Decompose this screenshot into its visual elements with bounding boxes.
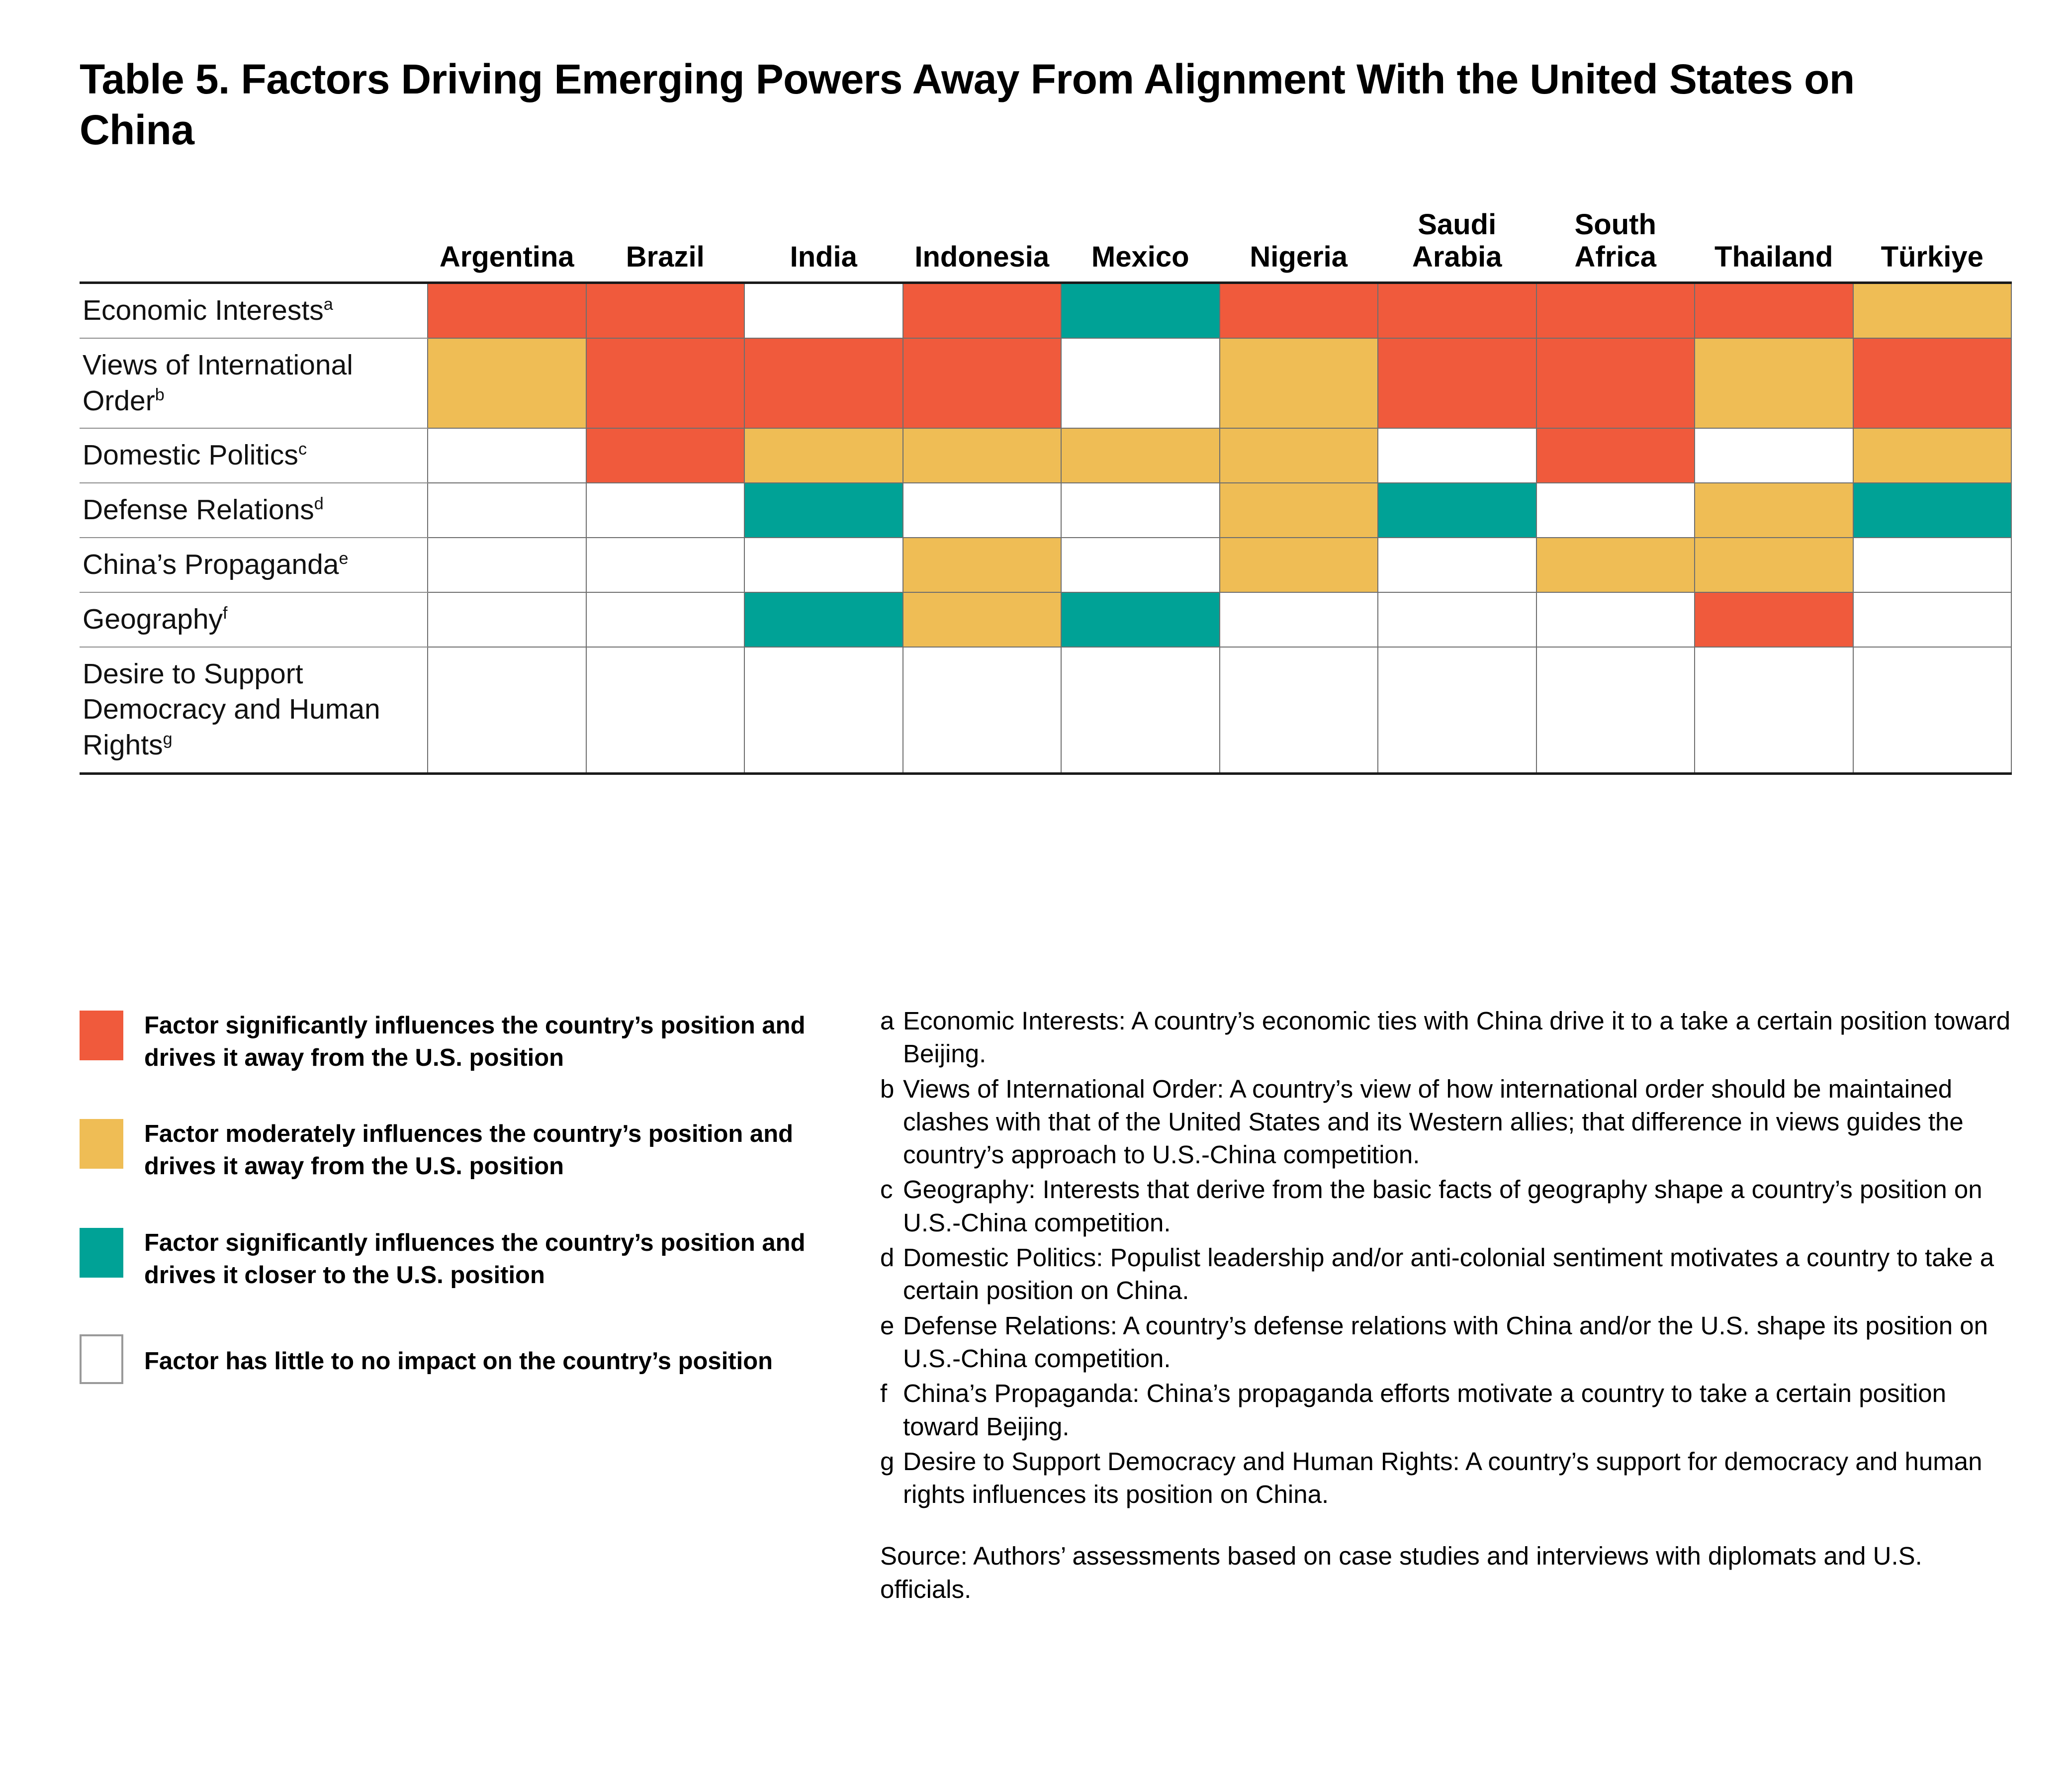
footnote-text: Geography: Interests that derive from th… <box>903 1173 2019 1239</box>
matrix-cell <box>1536 592 1695 647</box>
matrix-header-row: ArgentinaBrazilIndiaIndonesiaMexicoNiger… <box>80 209 2011 282</box>
matrix-cell <box>1536 282 1695 338</box>
matrix-cell <box>744 282 903 338</box>
matrix-cell <box>1695 338 1853 429</box>
column-header-mexico: Mexico <box>1061 209 1220 282</box>
row-label-china-s-propaganda: China’s Propagandae <box>80 538 428 592</box>
matrix-cell <box>1853 282 2012 338</box>
footnote-text: Views of International Order: A country’… <box>903 1073 2019 1172</box>
matrix-cell <box>1220 483 1378 538</box>
column-header-nigeria: Nigeria <box>1220 209 1378 282</box>
footnote-marker: c <box>880 1173 903 1239</box>
footnote-marker: e <box>880 1309 903 1376</box>
row-label-text: Desire to Support Democracy and Human Ri… <box>83 658 380 761</box>
row-label-views-of-international-order: Views of International Orderb <box>80 338 428 429</box>
matrix-cell <box>1220 647 1378 774</box>
matrix-cell <box>428 428 586 483</box>
footnote-text: Defense Relations: A country’s defense r… <box>903 1309 2019 1376</box>
legend-swatch-teal <box>80 1228 123 1278</box>
matrix-cell <box>1220 338 1378 429</box>
matrix-cell <box>586 282 745 338</box>
matrix-cell <box>744 338 903 429</box>
footnote-item: fChina’s Propaganda: China’s propaganda … <box>880 1377 2019 1443</box>
matrix-cell <box>1853 428 2012 483</box>
matrix-cell <box>1220 592 1378 647</box>
row-label-text: China’s Propaganda <box>83 549 339 580</box>
column-header-saudi-arabia: SaudiArabia <box>1378 209 1536 282</box>
matrix-cell <box>1061 428 1220 483</box>
matrix-cell <box>1853 647 2012 774</box>
matrix-cell <box>1220 538 1378 592</box>
row-footnote-marker: a <box>324 295 333 314</box>
footnote-marker: b <box>880 1073 903 1172</box>
table-row: Defense Relationsd <box>80 483 2011 538</box>
matrix-cell <box>1061 338 1220 429</box>
column-header-t-rkiye: Türkiye <box>1853 209 2012 282</box>
matrix-cell <box>1220 428 1378 483</box>
matrix-cell <box>1536 428 1695 483</box>
legend-label: Factor moderately influences the country… <box>144 1117 840 1183</box>
column-header-india: India <box>744 209 903 282</box>
matrix-cell <box>428 538 586 592</box>
legend-swatch-red <box>80 1011 123 1060</box>
row-label-text: Economic Interests <box>83 294 324 326</box>
matrix-body: Economic InterestsaViews of Internationa… <box>80 282 2011 773</box>
legend-item: Factor moderately influences the country… <box>80 1117 840 1183</box>
matrix-cell <box>1536 483 1695 538</box>
matrix-cell <box>1536 538 1695 592</box>
footnote-marker: g <box>880 1445 903 1511</box>
legend: Factor significantly influences the coun… <box>80 1005 840 1384</box>
matrix-head: ArgentinaBrazilIndiaIndonesiaMexicoNiger… <box>80 209 2011 282</box>
matrix-cell <box>428 338 586 429</box>
matrix-cell <box>1695 592 1853 647</box>
footnote-marker: d <box>880 1241 903 1307</box>
legend-swatch-yellow <box>80 1119 123 1169</box>
row-label-text: Views of International Order <box>83 349 353 417</box>
matrix-cell <box>428 282 586 338</box>
footnotes-list: aEconomic Interests: A country’s economi… <box>880 1005 2019 1511</box>
matrix-cell <box>1061 282 1220 338</box>
matrix-cell <box>586 483 745 538</box>
matrix-cell <box>1695 282 1853 338</box>
row-footnote-marker: e <box>339 549 349 568</box>
matrix-cell <box>1378 592 1536 647</box>
table-row: Domestic Politicsc <box>80 428 2011 483</box>
matrix-cell <box>1695 483 1853 538</box>
column-header-thailand: Thailand <box>1695 209 1853 282</box>
footnote-item: dDomestic Politics: Populist leadership … <box>880 1241 2019 1307</box>
matrix-cell <box>744 647 903 774</box>
matrix-cell <box>586 647 745 774</box>
matrix-cell <box>586 338 745 429</box>
matrix-cell <box>744 538 903 592</box>
footnote-item: bViews of International Order: A country… <box>880 1073 2019 1172</box>
matrix-cell <box>744 483 903 538</box>
row-footnote-marker: c <box>298 440 307 459</box>
footnote-text: China’s Propaganda: China’s propaganda e… <box>903 1377 2019 1443</box>
matrix-cell <box>903 538 1062 592</box>
footnote-item: cGeography: Interests that derive from t… <box>880 1173 2019 1239</box>
matrix-cell <box>1853 483 2012 538</box>
matrix-cell <box>744 428 903 483</box>
row-label-domestic-politics: Domestic Politicsc <box>80 428 428 483</box>
matrix-cell <box>1536 338 1695 429</box>
matrix-cell <box>1378 338 1536 429</box>
factor-matrix-table: ArgentinaBrazilIndiaIndonesiaMexicoNiger… <box>80 209 2012 775</box>
column-header-indonesia: Indonesia <box>903 209 1062 282</box>
matrix-cell <box>1220 282 1378 338</box>
row-footnote-marker: b <box>155 385 165 404</box>
legend-label: Factor has little to no impact on the co… <box>144 1334 773 1378</box>
legend-item: Factor significantly influences the coun… <box>80 1226 840 1292</box>
row-label-geography: Geographyf <box>80 592 428 647</box>
row-label-desire-to-support-democracy-and-human-rights: Desire to Support Democracy and Human Ri… <box>80 647 428 774</box>
footnote-marker: a <box>880 1005 903 1071</box>
lower-section: Factor significantly influences the coun… <box>80 1005 2019 1606</box>
row-footnote-marker: g <box>163 730 173 748</box>
row-footnote-marker: d <box>314 494 324 513</box>
footnote-marker: f <box>880 1377 903 1443</box>
matrix-cell <box>1695 538 1853 592</box>
table-row: Economic Interestsa <box>80 282 2011 338</box>
matrix-cell <box>903 338 1062 429</box>
footnote-item: eDefense Relations: A country’s defense … <box>880 1309 2019 1376</box>
matrix-cell <box>903 282 1062 338</box>
legend-label: Factor significantly influences the coun… <box>144 1009 840 1074</box>
matrix-cell <box>1061 647 1220 774</box>
matrix-cell <box>428 483 586 538</box>
matrix-cell <box>1378 647 1536 774</box>
column-header-argentina: Argentina <box>428 209 586 282</box>
matrix-cell <box>903 592 1062 647</box>
matrix-cell <box>1061 592 1220 647</box>
matrix-cell <box>1853 538 2012 592</box>
matrix-cell <box>1853 592 2012 647</box>
row-label-text: Defense Relations <box>83 494 314 526</box>
column-header-brazil: Brazil <box>586 209 745 282</box>
matrix-cell <box>744 592 903 647</box>
matrix-cell <box>428 647 586 774</box>
table-row: Geographyf <box>80 592 2011 647</box>
row-label-economic-interests: Economic Interestsa <box>80 282 428 338</box>
footnote-text: Desire to Support Democracy and Human Ri… <box>903 1445 2019 1511</box>
footnote-text: Domestic Politics: Populist leadership a… <box>903 1241 2019 1307</box>
legend-item: Factor has little to no impact on the co… <box>80 1334 840 1384</box>
matrix-cell <box>1378 282 1536 338</box>
matrix-cell <box>1695 647 1853 774</box>
matrix-cell <box>1536 647 1695 774</box>
table-row: Views of International Orderb <box>80 338 2011 429</box>
legend-swatch-none <box>80 1334 123 1384</box>
table-row: Desire to Support Democracy and Human Ri… <box>80 647 2011 774</box>
matrix-cell <box>903 428 1062 483</box>
matrix-cell <box>1378 428 1536 483</box>
matrix-cell <box>903 647 1062 774</box>
matrix-cell <box>586 592 745 647</box>
table-page: Table 5. Factors Driving Emerging Powers… <box>0 0 2072 1767</box>
footnotes-block: aEconomic Interests: A country’s economi… <box>840 1005 2019 1606</box>
legend-label: Factor significantly influences the coun… <box>144 1226 840 1292</box>
legend-item: Factor significantly influences the coun… <box>80 1009 840 1074</box>
table-row: China’s Propagandae <box>80 538 2011 592</box>
matrix-cell <box>1378 483 1536 538</box>
matrix-cell <box>1061 483 1220 538</box>
row-label-defense-relations: Defense Relationsd <box>80 483 428 538</box>
factor-matrix-container: ArgentinaBrazilIndiaIndonesiaMexicoNiger… <box>80 209 2011 775</box>
matrix-corner-cell <box>80 209 428 282</box>
footnote-text: Economic Interests: A country’s economic… <box>903 1005 2019 1071</box>
matrix-cell <box>1378 538 1536 592</box>
row-label-text: Geography <box>83 603 223 635</box>
row-footnote-marker: f <box>223 604 228 623</box>
source-note: Source: Authors’ assessments based on ca… <box>880 1540 2019 1606</box>
row-label-text: Domestic Politics <box>83 439 298 471</box>
matrix-cell <box>903 483 1062 538</box>
matrix-cell <box>1695 428 1853 483</box>
matrix-cell <box>586 428 745 483</box>
footnote-item: gDesire to Support Democracy and Human R… <box>880 1445 2019 1511</box>
matrix-cell <box>586 538 745 592</box>
page-title: Table 5. Factors Driving Emerging Powers… <box>80 54 1949 156</box>
matrix-cell <box>1853 338 2012 429</box>
matrix-cell <box>428 592 586 647</box>
column-header-south-africa: SouthAfrica <box>1536 209 1695 282</box>
matrix-cell <box>1061 538 1220 592</box>
footnote-item: aEconomic Interests: A country’s economi… <box>880 1005 2019 1071</box>
